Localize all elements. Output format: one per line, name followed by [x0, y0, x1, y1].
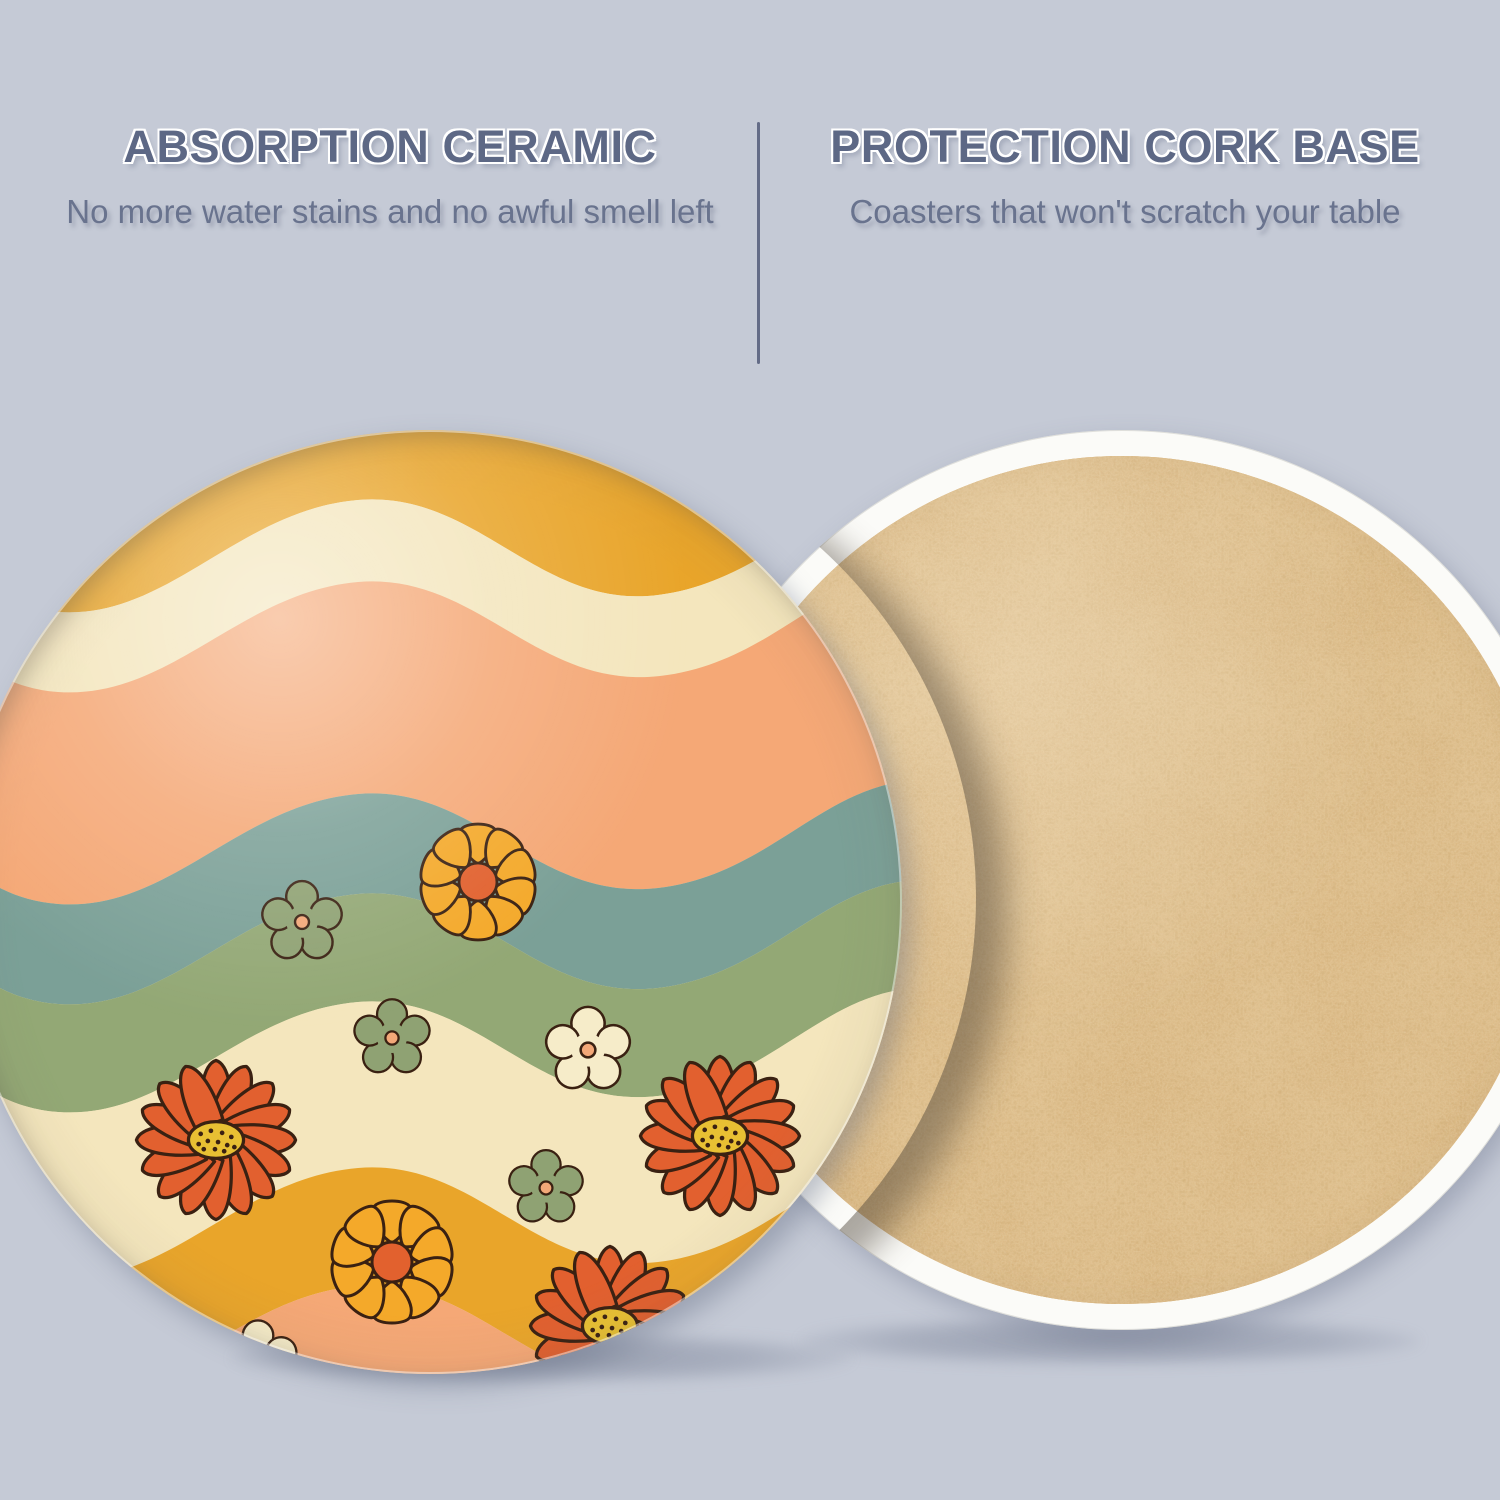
flower-gerbera	[640, 1056, 799, 1215]
flower-gerbera	[136, 1060, 295, 1219]
header-divider	[757, 122, 760, 364]
absorption-subline: No more water stains and no awful smell …	[40, 190, 740, 234]
flower-daisy	[417, 824, 539, 940]
groovy-floral-pattern	[0, 430, 902, 1374]
feature-column-protection: PROTECTION CORK BASE Coasters that won't…	[780, 118, 1470, 233]
protection-subline: Coasters that won't scratch your table	[780, 190, 1470, 234]
flower-gerbera	[0, 1250, 146, 1374]
absorption-headline: ABSORPTION CERAMIC	[40, 118, 740, 176]
flower-daisy	[820, 1187, 902, 1309]
flower-cream	[716, 1320, 801, 1374]
product-feature-image: ABSORPTION CERAMIC No more water stains …	[0, 0, 1500, 1500]
ceramic-top-coaster[interactable]	[0, 430, 902, 1374]
feature-header: ABSORPTION CERAMIC No more water stains …	[0, 0, 1500, 400]
protection-headline: PROTECTION CORK BASE	[780, 118, 1470, 176]
flower-daisy	[328, 1201, 456, 1323]
feature-column-absorption: ABSORPTION CERAMIC No more water stains …	[40, 118, 740, 233]
